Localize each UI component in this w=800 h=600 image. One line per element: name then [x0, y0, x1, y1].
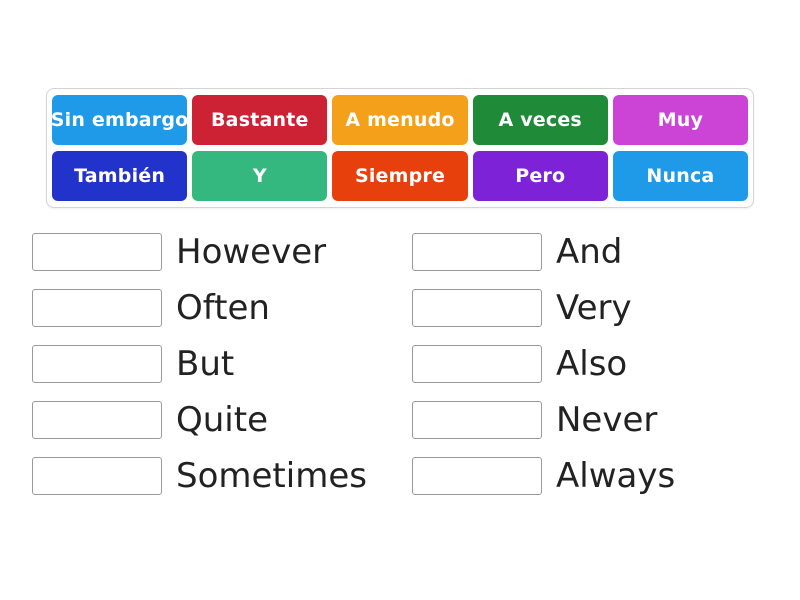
- answer-grid: However And Often Very But Also Quite: [32, 224, 772, 504]
- answer-row-quite: Quite: [32, 392, 412, 448]
- answer-label-always: Always: [556, 459, 675, 493]
- answer-label-however: However: [176, 235, 326, 269]
- word-tile-y[interactable]: Y: [192, 151, 327, 201]
- drop-slot-sometimes[interactable]: [32, 457, 162, 495]
- word-tile-a-veces[interactable]: A veces: [473, 95, 608, 145]
- drop-slot-and[interactable]: [412, 233, 542, 271]
- answer-row-however: However: [32, 224, 412, 280]
- drop-slot-very[interactable]: [412, 289, 542, 327]
- answer-label-quite: Quite: [176, 403, 268, 437]
- match-up-activity: Sin embargo Bastante A menudo A veces Mu…: [0, 0, 800, 600]
- answer-label-very: Very: [556, 291, 632, 325]
- word-tile-pero[interactable]: Pero: [473, 151, 608, 201]
- answer-label-often: Often: [176, 291, 270, 325]
- answer-row-always: Always: [412, 448, 772, 504]
- answer-label-and: And: [556, 235, 622, 269]
- answer-label-also: Also: [556, 347, 627, 381]
- word-tile-bastante[interactable]: Bastante: [192, 95, 327, 145]
- word-tile-nunca[interactable]: Nunca: [613, 151, 748, 201]
- answer-label-sometimes: Sometimes: [176, 459, 367, 493]
- word-tile-sin-embargo[interactable]: Sin embargo: [52, 95, 187, 145]
- answer-row-very: Very: [412, 280, 772, 336]
- answer-label-never: Never: [556, 403, 657, 437]
- drop-slot-also[interactable]: [412, 345, 542, 383]
- word-bank-row-1: Sin embargo Bastante A menudo A veces Mu…: [52, 95, 748, 145]
- answer-row-but: But: [32, 336, 412, 392]
- drop-slot-never[interactable]: [412, 401, 542, 439]
- word-bank-row-2: También Y Siempre Pero Nunca: [52, 151, 748, 201]
- drop-slot-often[interactable]: [32, 289, 162, 327]
- answer-label-but: But: [176, 347, 234, 381]
- answer-row-never: Never: [412, 392, 772, 448]
- word-tile-tambien[interactable]: También: [52, 151, 187, 201]
- word-tile-muy[interactable]: Muy: [613, 95, 748, 145]
- drop-slot-quite[interactable]: [32, 401, 162, 439]
- answer-row-sometimes: Sometimes: [32, 448, 412, 504]
- answer-row-and: And: [412, 224, 772, 280]
- drop-slot-however[interactable]: [32, 233, 162, 271]
- drop-slot-but[interactable]: [32, 345, 162, 383]
- word-tile-a-menudo[interactable]: A menudo: [332, 95, 467, 145]
- answer-row-often: Often: [32, 280, 412, 336]
- word-bank: Sin embargo Bastante A menudo A veces Mu…: [46, 88, 754, 208]
- answer-row-also: Also: [412, 336, 772, 392]
- drop-slot-always[interactable]: [412, 457, 542, 495]
- word-tile-siempre[interactable]: Siempre: [332, 151, 467, 201]
